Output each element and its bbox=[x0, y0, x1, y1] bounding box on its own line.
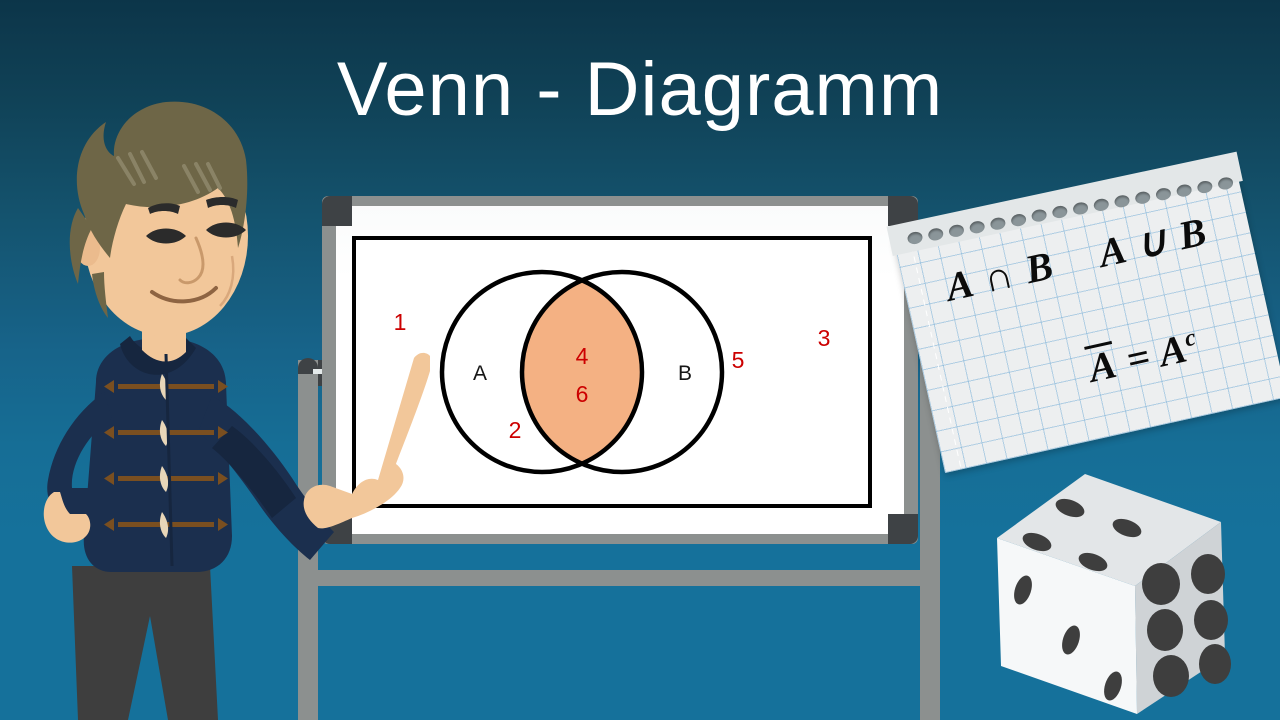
illustration-canvas: Venn - Diagramm A B 1 2 3 4 6 5 bbox=[0, 0, 1280, 720]
dice bbox=[975, 468, 1235, 720]
venn-label-b: B bbox=[678, 362, 692, 385]
venn-label-a: A bbox=[473, 362, 487, 385]
teacher-character bbox=[0, 96, 430, 720]
venn-number-inside-a: 2 bbox=[509, 417, 522, 443]
venn-number-intersection-top: 4 bbox=[576, 343, 589, 369]
venn-number-intersection-bottom: 6 bbox=[576, 381, 589, 407]
character-pointing-hand bbox=[304, 353, 430, 528]
character-trousers bbox=[72, 566, 218, 720]
board-corner-bottom-right bbox=[888, 514, 918, 544]
venn-number-outside-right: 3 bbox=[818, 325, 831, 351]
notepad: A ∩ B A ∪ B A = Ac bbox=[893, 163, 1280, 473]
venn-number-inside-b: 5 bbox=[732, 347, 745, 373]
venn-diagram: A B 1 2 3 4 6 5 bbox=[352, 236, 872, 508]
